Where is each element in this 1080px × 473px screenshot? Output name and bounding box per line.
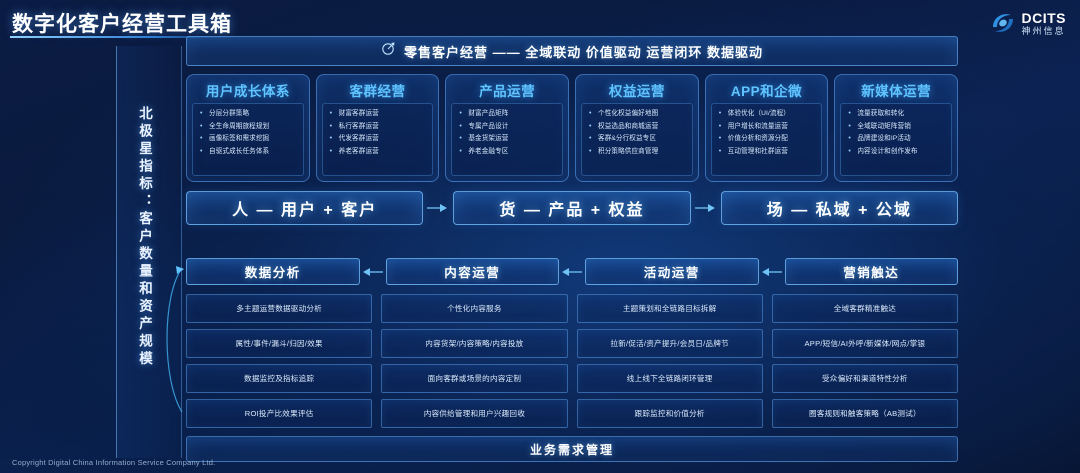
list-item: 画像标签和需求挖掘 (198, 133, 300, 146)
list-item: 品牌建设和IP活动 (846, 133, 948, 146)
list-item: 用户增长和流量运营 (717, 121, 819, 134)
stage-head-row: 数据分析 内容运营 活动运营 营销触达 (186, 258, 958, 285)
list-item: 财富客群运营 (328, 108, 430, 121)
list-item: 财富产品矩阵 (457, 108, 559, 121)
card-title: 产品运营 (451, 79, 563, 103)
page-title: 数字化客户经营工具箱 (12, 8, 232, 38)
grid-cell[interactable]: 全域客群精准触达 (772, 294, 958, 323)
list-item: 流量获取和转化 (846, 108, 948, 121)
arrow-left-icon (559, 266, 585, 278)
list-item: 专属产品设计 (457, 121, 559, 134)
list-item: 私行客群运营 (328, 121, 430, 134)
head-label: 数据分析 (245, 262, 301, 281)
card-title: 新媒体运营 (840, 79, 952, 103)
grid-cell[interactable]: 圈客规则和触客策略（AB测试） (772, 399, 958, 428)
pillar-people[interactable]: 人 — 用户 + 客户 (186, 191, 423, 225)
grid-cell[interactable]: 内容供给管理和用户兴趣回收 (381, 399, 567, 428)
head-marketing-reach[interactable]: 营销触达 (785, 258, 959, 285)
list-item: 基金货架运营 (457, 133, 559, 146)
head-label: 活动运营 (644, 262, 700, 281)
pillar-label: 人 — 用户 + 客户 (232, 196, 377, 220)
grid-cell[interactable]: 面向客群或场景的内容定制 (381, 364, 567, 393)
card-body: 财富客群运营 私行客群运营 代发客群运营 养老客群运营 (322, 103, 434, 176)
list-item: 客群&分行权益专区 (587, 133, 689, 146)
logo-text-cn: 神州信息 (1022, 27, 1067, 36)
card-body: 体验优化（UI/流程） 用户增长和流量运营 价值分析和资源分配 互动管理和社群运… (711, 103, 823, 176)
dcits-swirl-icon (990, 10, 1016, 36)
grid-cell[interactable]: 受众偏好和渠道特性分析 (772, 364, 958, 393)
pillar-chain-row: 人 — 用户 + 客户 货 — 产品 + 权益 场 — 私域 + 公域 (186, 191, 958, 225)
list-item: 全域联动矩阵营销 (846, 121, 948, 134)
list-item: 个性化权益偏好地图 (587, 108, 689, 121)
list-item: 代发客群运营 (328, 133, 430, 146)
list-item: 养老金融专区 (457, 146, 559, 159)
grid-cell[interactable]: 数据监控及指标追踪 (186, 364, 372, 393)
card-body: 个性化权益偏好地图 权益选品和商城运营 客群&分行权益专区 积分策略供应商管理 (581, 103, 693, 176)
grid-cell[interactable]: ROI投产比效果评估 (186, 399, 372, 428)
list-item: 养老客群运营 (328, 146, 430, 159)
slide-canvas: 数字化客户经营工具箱 DCITS 神州信息 北极星指标：客户数量和资产规模 (0, 0, 1080, 473)
list-item: 权益选品和商城运营 (587, 121, 689, 134)
banner-text: 零售客户经营 —— 全域联动 价值驱动 运营闭环 数据驱动 (404, 42, 763, 61)
grid-cell[interactable]: 跟踪监控和价值分析 (577, 399, 763, 428)
card-body: 财富产品矩阵 专属产品设计 基金货架运营 养老金融专区 (451, 103, 563, 176)
brand-logo: DCITS 神州信息 (990, 10, 1067, 36)
card-body: 流量获取和转化 全域联动矩阵营销 品牌建设和IP活动 内容设计和创作发布 (840, 103, 952, 176)
card-product-ops[interactable]: 产品运营 财富产品矩阵 专属产品设计 基金货架运营 养老金融专区 (445, 74, 569, 182)
foundation-bar[interactable]: 业务需求管理 (186, 436, 958, 462)
list-item: 体验优化（UI/流程） (717, 108, 819, 121)
copyright-text: Copyright Digital China Information Serv… (12, 458, 215, 467)
card-title: 客群经营 (322, 79, 434, 103)
head-campaign-ops[interactable]: 活动运营 (585, 258, 759, 285)
cycle-loop-arrow-icon (156, 262, 186, 432)
arrow-left-icon (759, 266, 785, 278)
pillar-goods[interactable]: 货 — 产品 + 权益 (453, 191, 690, 225)
card-title: 用户成长体系 (192, 79, 304, 103)
pillar-label: 货 — 产品 + 权益 (499, 196, 644, 220)
card-body: 分层分群策略 全生命周期旅程规划 画像标签和需求挖掘 自驱式成长任务体系 (192, 103, 304, 176)
list-item: 积分策略供应商管理 (587, 146, 689, 159)
north-star-label: 北极星指标：客户数量和资产规模 (130, 106, 154, 369)
arrow-right-icon (691, 202, 721, 214)
grid-cell[interactable]: APP/短信/AI外呼/新媒体/网点/掌银 (772, 329, 958, 358)
pillar-label: 场 — 私域 + 公域 (767, 196, 912, 220)
capability-card-row: 用户成长体系 分层分群策略 全生命周期旅程规划 画像标签和需求挖掘 自驱式成长任… (186, 74, 958, 182)
column-content-ops: 个性化内容服务 内容货架/内容策略/内容投放 面向客群或场景的内容定制 内容供给… (381, 294, 567, 428)
target-arrow-icon (381, 41, 396, 61)
head-label: 内容运营 (444, 262, 500, 281)
logo-text-en: DCITS (1022, 11, 1067, 25)
banner-strip: 零售客户经营 —— 全域联动 价值驱动 运营闭环 数据驱动 (186, 36, 958, 66)
foundation-label: 业务需求管理 (530, 441, 614, 458)
head-label: 营销触达 (843, 262, 899, 281)
head-data-analysis[interactable]: 数据分析 (186, 258, 360, 285)
list-item: 自驱式成长任务体系 (198, 146, 300, 159)
arrow-right-icon (423, 202, 453, 214)
list-item: 分层分群策略 (198, 108, 300, 121)
column-data-analysis: 多主题运营数据驱动分析 属性/事件/漏斗/归因/效果 数据监控及指标追踪 ROI… (186, 294, 372, 428)
pillar-place[interactable]: 场 — 私域 + 公域 (721, 191, 958, 225)
grid-cell[interactable]: 个性化内容服务 (381, 294, 567, 323)
grid-cell[interactable]: 主题策划和全链路目标拆解 (577, 294, 763, 323)
grid-cell[interactable]: 拉新/促活/资产提升/会员日/品牌节 (577, 329, 763, 358)
card-user-growth[interactable]: 用户成长体系 分层分群策略 全生命周期旅程规划 画像标签和需求挖掘 自驱式成长任… (186, 74, 310, 182)
column-marketing-reach: 全域客群精准触达 APP/短信/AI外呼/新媒体/网点/掌银 受众偏好和渠道特性… (772, 294, 958, 428)
list-item: 价值分析和资源分配 (717, 133, 819, 146)
grid-cell[interactable]: 多主题运营数据驱动分析 (186, 294, 372, 323)
grid-cell[interactable]: 线上线下全链路闭环管理 (577, 364, 763, 393)
list-item: 内容设计和创作发布 (846, 146, 948, 159)
card-title: 权益运营 (581, 79, 693, 103)
card-new-media[interactable]: 新媒体运营 流量获取和转化 全域联动矩阵营销 品牌建设和IP活动 内容设计和创作… (834, 74, 958, 182)
grid-cell[interactable]: 属性/事件/漏斗/归因/效果 (186, 329, 372, 358)
card-benefits-ops[interactable]: 权益运营 个性化权益偏好地图 权益选品和商城运营 客群&分行权益专区 积分策略供… (575, 74, 699, 182)
head-content-ops[interactable]: 内容运营 (386, 258, 560, 285)
card-customer-group[interactable]: 客群经营 财富客群运营 私行客群运营 代发客群运营 养老客群运营 (316, 74, 440, 182)
list-item: 全生命周期旅程规划 (198, 121, 300, 134)
card-title: APP和企微 (711, 79, 823, 103)
list-item: 互动管理和社群运营 (717, 146, 819, 159)
card-app-wecom[interactable]: APP和企微 体验优化（UI/流程） 用户增长和流量运营 价值分析和资源分配 互… (705, 74, 829, 182)
grid-cell[interactable]: 内容货架/内容策略/内容投放 (381, 329, 567, 358)
column-campaign-ops: 主题策划和全链路目标拆解 拉新/促活/资产提升/会员日/品牌节 线上线下全链路闭… (577, 294, 763, 428)
arrow-left-icon (360, 266, 386, 278)
detail-grid: 多主题运营数据驱动分析 属性/事件/漏斗/归因/效果 数据监控及指标追踪 ROI… (186, 294, 958, 428)
